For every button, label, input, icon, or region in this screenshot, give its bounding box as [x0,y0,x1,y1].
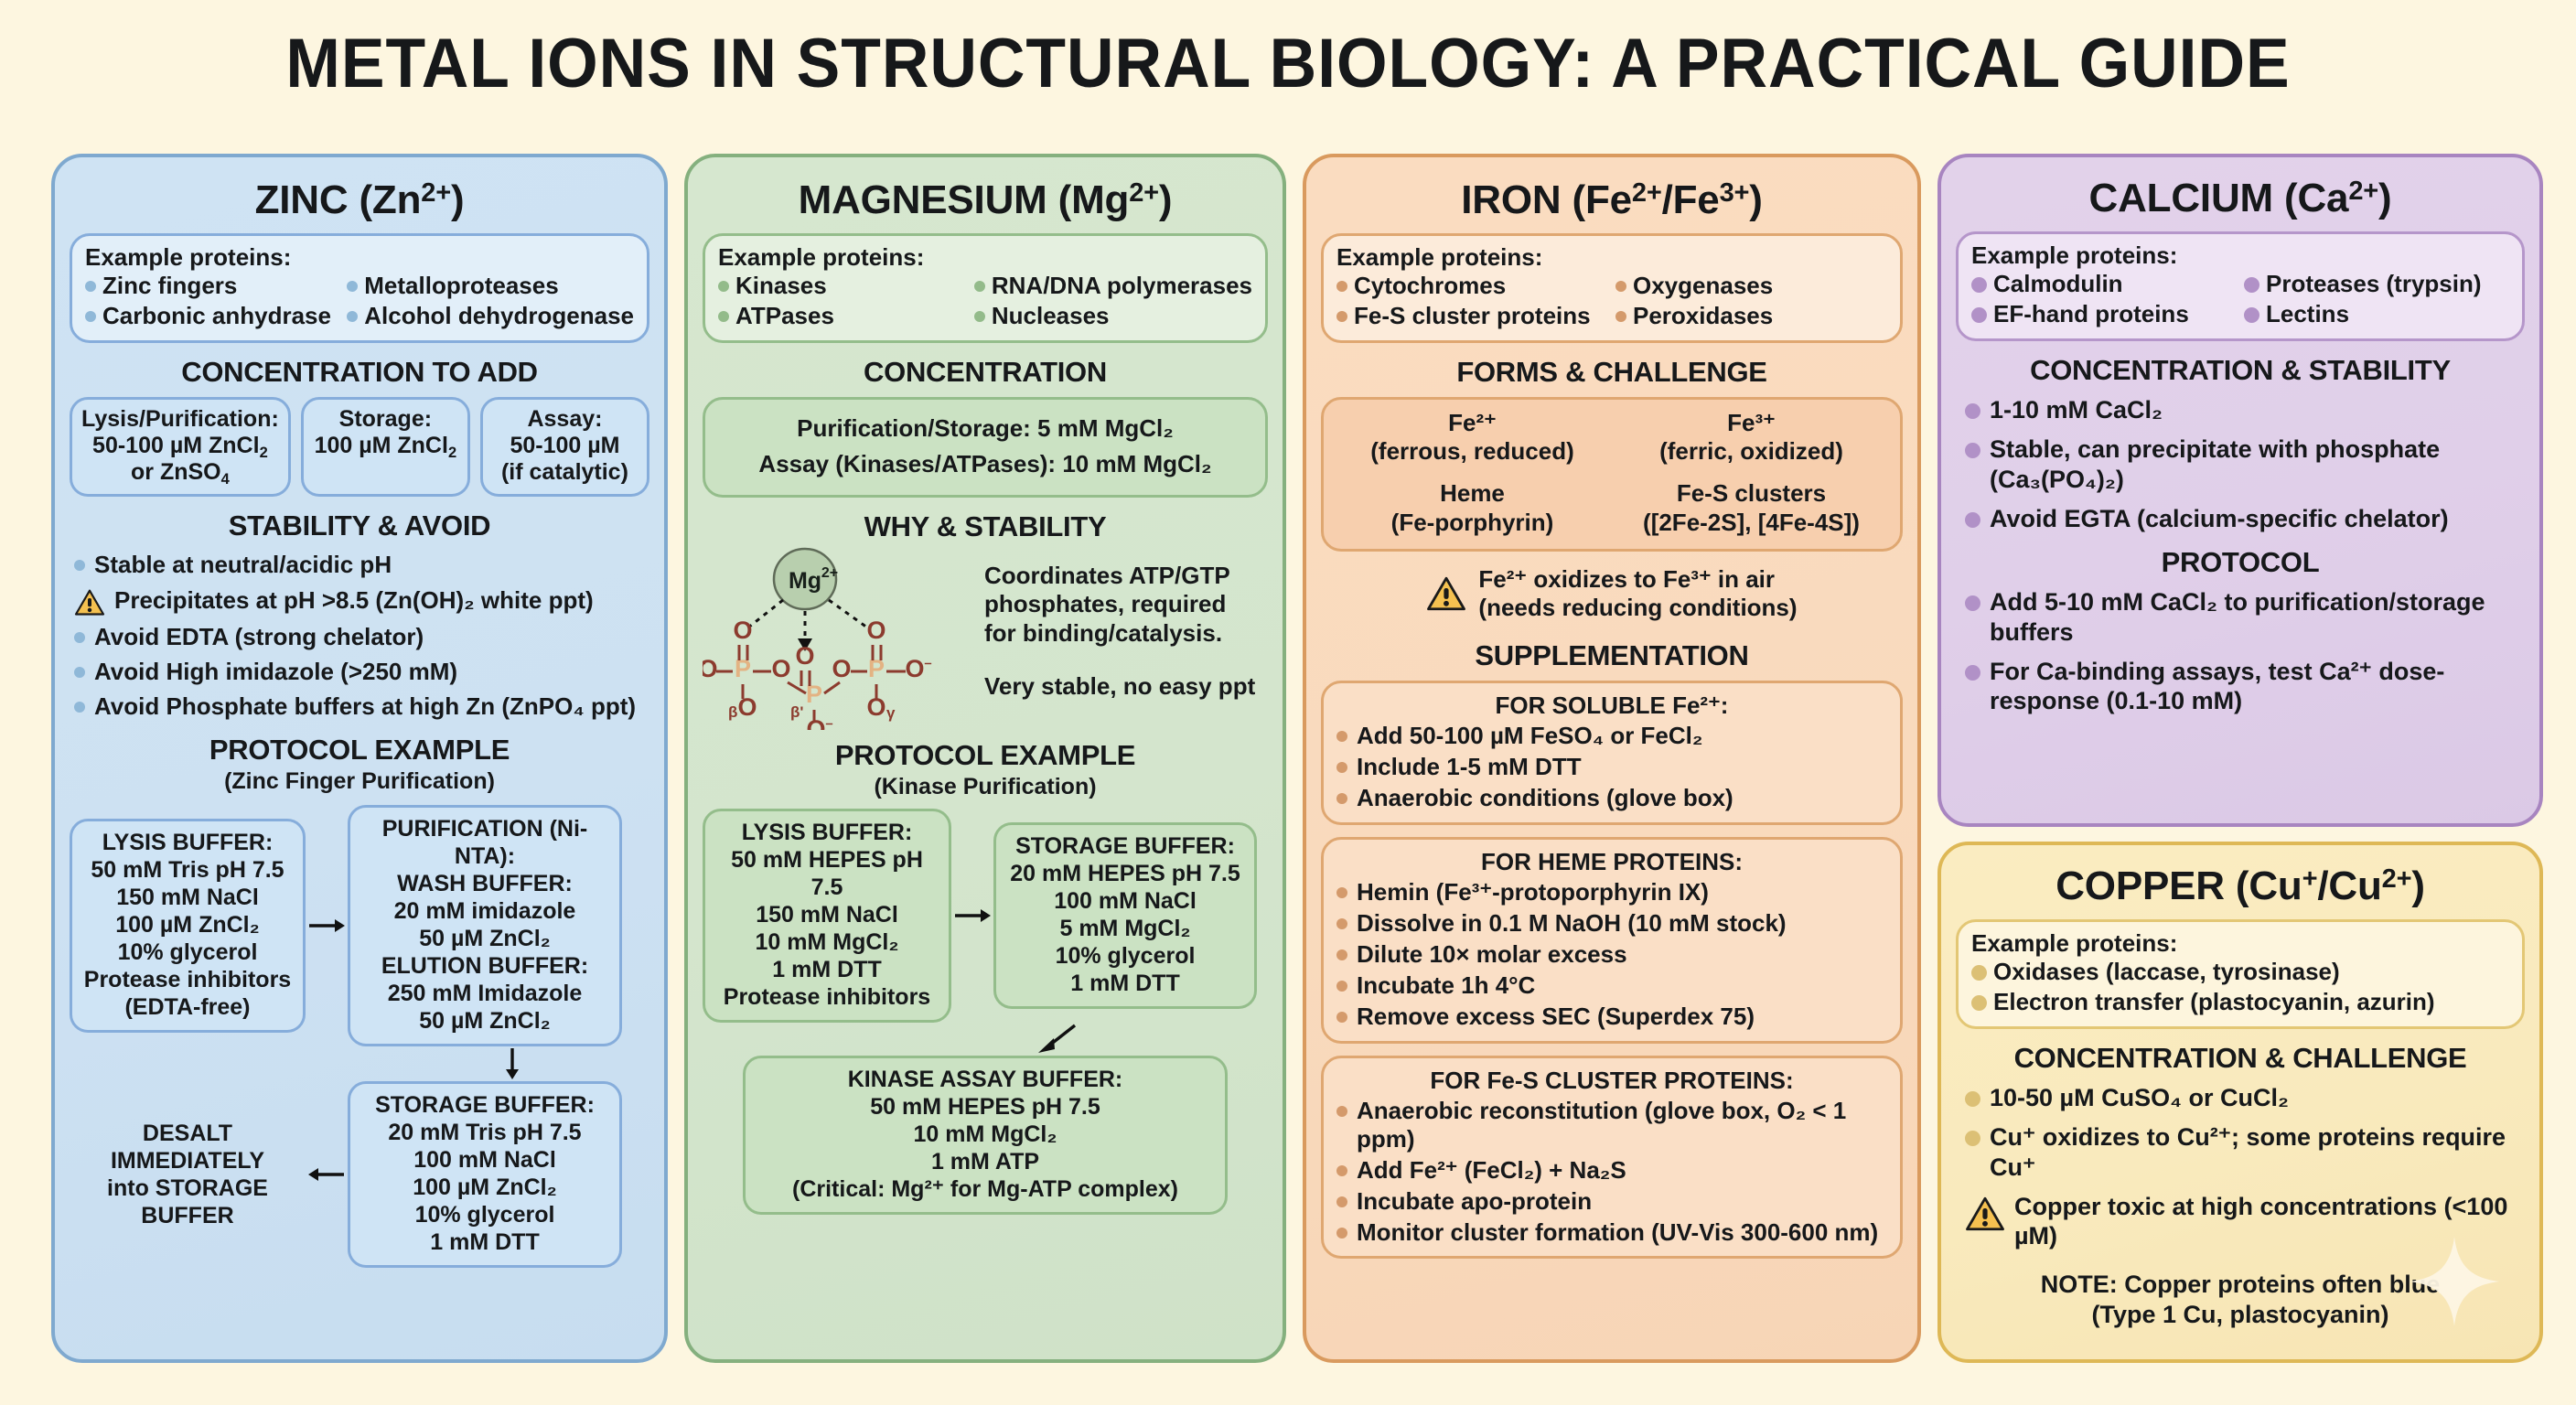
zinc-concentration-boxes: Lysis/Purification: 50-100 µM ZnCl2 or Z… [70,397,649,498]
list-item: Add 5-10 mM CaCl₂ to purification/storag… [1965,587,2525,647]
list-item: Cytochromes [1336,271,1608,301]
list-item: Oxygenases [1615,271,1887,301]
list-item: Anaerobic reconstitution (glove box, O₂ … [1336,1097,1887,1153]
example-proteins-label: Example proteins: [1336,244,1887,271]
zinc-protein-grid: Zinc fingers Metalloproteases Carbonic a… [85,271,634,331]
iron-form-fes: Fe-S clusters([2Fe-2S], [4Fe-4S]) [1612,479,1891,537]
bullet-dot-icon [1336,1228,1347,1239]
svg-text:β: β [728,703,737,721]
svg-text:⁻: ⁻ [924,658,932,675]
list-item: Lectins [2244,299,2509,329]
calcium-protocol-heading: PROTOCOL [1956,546,2525,579]
bullet-dot-icon [1336,1012,1347,1023]
bullet-dot-icon [1336,731,1347,742]
metal-column-magnesium: MAGNESIUM (Mg2+) Example proteins: Kinas… [684,154,1286,1363]
magnesium-protocol-heading: PROTOCOL EXAMPLE [703,739,1268,772]
flow-arrow-down-icon [70,1047,649,1080]
flow-box-lysis-buffer: LYSIS BUFFER: 50 mM HEPES pH 7.5 150 mM … [703,809,951,1023]
zinc-stability-list: Stable at neutral/acidic pH Precipitates… [70,551,649,721]
bullet-dot-icon [85,311,96,322]
bullet-dot-icon [347,311,358,322]
bullet-dot-icon [1971,307,1987,323]
list-item: Electron transfer (plastocyanin, azurin) [1971,987,2509,1017]
svg-text:O: O [905,655,924,682]
copper-protein-grid: Oxidases (laccase, tyrosinase) Electron … [1971,957,2509,1017]
list-item: Remove excess SEC (Superdex 75) [1336,1003,1887,1031]
magnesium-title: MAGNESIUM (Mg2+) [703,179,1268,222]
calcium-concentration-list: 1-10 mM CaCl₂ Stable, can precipitate wi… [1956,395,2525,534]
list-item: Calmodulin [1971,269,2237,299]
iron-form-fe3: Fe³⁺(ferric, oxidized) [1612,409,1891,467]
magnesium-example-proteins-panel: Example proteins: Kinases RNA/DNA polyme… [703,233,1268,343]
bullet-dot-icon [1965,443,1980,458]
bullet-dot-icon [74,702,85,713]
copper-concentration-list: 10-50 µM CuSO₄ or CuCl₂ Cu⁺ oxidizes to … [1956,1083,2525,1251]
magnesium-protein-grid: Kinases RNA/DNA polymerases ATPases Nucl… [718,271,1252,331]
bullet-dot-icon [2244,277,2259,293]
bullet-dot-icon [974,281,985,292]
bullet-dot-icon [1336,1165,1347,1176]
bullet-dot-icon [1615,281,1626,292]
magnesium-concentration-heading: CONCENTRATION [703,356,1268,389]
concentration-box-lysis: Lysis/Purification: 50-100 µM ZnCl2 or Z… [70,397,291,498]
list-item: Avoid Phosphate buffers at high Zn (ZnPO… [74,692,649,721]
bullet-dot-icon [1336,311,1347,322]
list-item: Peroxidases [1615,301,1887,331]
iron-soluble-panel: FOR SOLUBLE Fe²⁺: Add 50-100 µM FeSO₄ or… [1321,681,1903,825]
calcium-concentration-heading: CONCENTRATION & STABILITY [1956,354,2525,387]
zinc-flow-row-2: DESALT IMMEDIATELY into STORAGE BUFFER S… [70,1081,649,1268]
iron-fes-panel: FOR Fe-S CLUSTER PROTEINS: Anaerobic rec… [1321,1056,1903,1260]
bullet-dot-icon [74,560,85,571]
magnesium-why-text: Coordinates ATP/GTP phosphates, required… [981,547,1255,702]
svg-text:O: O [832,655,851,682]
mg-atp-phosphate-molecule-diagram: Mg 2+ O O O O P O O P O P [703,547,977,730]
example-proteins-label: Example proteins: [1971,930,2509,957]
bullet-dot-icon [1971,995,1987,1011]
list-item: Add 50-100 µM FeSO₄ or FeCl₂ [1336,722,1887,750]
bullet-dot-icon [1971,965,1987,981]
example-proteins-label: Example proteins: [718,244,1252,271]
bullet-dot-icon [1336,887,1347,898]
svg-text:β': β' [790,703,803,721]
calcium-protein-grid: Calmodulin Proteases (trypsin) EF-hand p… [1971,269,2509,329]
bullet-dot-icon [1965,1131,1980,1146]
list-item: Incubate 1h 4°C [1336,971,1887,1000]
flow-box-purification: PURIFICATION (Ni-NTA): WASH BUFFER: 20 m… [348,805,622,1046]
flow-box-kinase-assay-buffer: KINASE ASSAY BUFFER: 50 mM HEPES pH 7.5 … [743,1056,1228,1215]
svg-text:⁻: ⁻ [825,718,833,730]
page-title: METAL IONS IN STRUCTURAL BIOLOGY: A PRAC… [77,24,2498,103]
list-item: 10-50 µM CuSO₄ or CuCl₂ [1965,1083,2525,1112]
magnesium-flow-row-1: LYSIS BUFFER: 50 mM HEPES pH 7.5 150 mM … [703,809,1268,1023]
warning-triangle-icon [74,589,105,617]
bullet-dot-icon [1336,793,1347,804]
iron-forms-heading: FORMS & CHALLENGE [1321,356,1903,389]
svg-text:2+: 2+ [821,565,838,581]
zinc-title: ZINC (Zn2+) [70,179,649,222]
list-item: Precipitates at pH >8.5 (Zn(OH)₂ white p… [74,586,649,617]
iron-warning-row: Fe²⁺ oxidizes to Fe³⁺ in air (needs redu… [1321,565,1903,623]
bullet-dot-icon [85,281,96,292]
flow-arrow-left-icon [306,1165,348,1184]
iron-example-proteins-panel: Example proteins: Cytochromes Oxygenases… [1321,233,1903,343]
list-item: Dilute 10× molar excess [1336,940,1887,969]
concentration-box-assay: Assay: 50-100 µM (if catalytic) [480,397,649,498]
iron-form-fe2: Fe²⁺(ferrous, reduced) [1333,409,1612,467]
list-item: Proteases (trypsin) [2244,269,2509,299]
list-item: Incubate apo-protein [1336,1187,1887,1216]
bullet-dot-icon [1965,403,1980,419]
svg-text:O: O [806,715,825,730]
copper-title: COPPER (Cu+/Cu2+) [1956,865,2525,908]
svg-text:O: O [771,655,790,682]
bullet-dot-icon [1336,981,1347,992]
magnesium-why-row: Mg 2+ O O O O P O O P O P [703,547,1268,730]
list-item: Fe-S cluster proteins [1336,301,1608,331]
magnesium-protocol-subheading: (Kinase Purification) [703,774,1268,800]
bullet-dot-icon [974,311,985,322]
bullet-dot-icon [718,311,729,322]
bullet-dot-icon [1336,762,1347,773]
desalt-label: DESALT IMMEDIATELY into STORAGE BUFFER [70,1120,306,1229]
list-item: ATPases [718,301,967,331]
list-item: Carbonic anhydrase [85,301,339,331]
list-item: EF-hand proteins [1971,299,2237,329]
zinc-flow-row-1: LYSIS BUFFER: 50 mM Tris pH 7.5 150 mM N… [70,805,649,1046]
list-item: Cu⁺ oxidizes to Cu²⁺; some proteins requ… [1965,1122,2525,1182]
copper-concentration-heading: CONCENTRATION & CHALLENGE [1956,1042,2525,1075]
bullet-dot-icon [1336,1106,1347,1117]
magnesium-why-heading: WHY & STABILITY [703,510,1268,543]
zinc-stability-heading: STABILITY & AVOID [70,509,649,542]
bullet-dot-icon [1971,277,1987,293]
list-item: Stable, can precipitate with phosphate (… [1965,434,2525,494]
list-item: Stable at neutral/acidic pH [74,551,649,579]
list-item: Oxidases (laccase, tyrosinase) [1971,957,2509,987]
copper-example-proteins-panel: Example proteins: Oxidases (laccase, tyr… [1956,919,2525,1029]
bullet-dot-icon [74,667,85,678]
list-item: Anaerobic conditions (glove box) [1336,784,1887,812]
list-item: Kinases [718,271,967,301]
list-item: Hemin (Fe³⁺-protoporphyrin IX) [1336,878,1887,906]
infographic-root: METAL IONS IN STRUCTURAL BIOLOGY: A PRAC… [0,0,2576,1405]
list-item: RNA/DNA polymerases [974,271,1252,301]
iron-form-heme: Heme(Fe-porphyrin) [1333,479,1612,537]
list-item: Avoid EDTA (strong chelator) [74,623,649,651]
calcium-protocol-list: Add 5-10 mM CaCl₂ to purification/storag… [1956,587,2525,716]
list-item: Alcohol dehydrogenase [347,301,634,331]
iron-heme-panel: FOR HEME PROTEINS: Hemin (Fe³⁺-protoporp… [1321,837,1903,1044]
bullet-dot-icon [347,281,358,292]
flow-box-storage-buffer: STORAGE BUFFER: 20 mM Tris pH 7.5 100 mM… [348,1081,622,1268]
flow-arrow-right-icon [306,917,348,935]
iron-supplementation-heading: SUPPLEMENTATION [1321,639,1903,672]
iron-title: IRON (Fe2+/Fe3+) [1321,179,1903,222]
svg-text:⁻: ⁻ [703,658,706,675]
bullet-dot-icon [1336,1196,1347,1207]
svg-text:γ: γ [886,704,896,722]
iron-protein-grid: Cytochromes Oxygenases Fe-S cluster prot… [1336,271,1887,331]
calcium-example-proteins-panel: Example proteins: Calmodulin Proteases (… [1956,231,2525,341]
calcium-title: CALCIUM (Ca2+) [1956,177,2525,220]
metal-column-zinc: ZINC (Zn2+) Example proteins: Zinc finge… [51,154,668,1363]
bullet-dot-icon [1336,281,1347,292]
flow-box-storage-buffer: STORAGE BUFFER: 20 mM HEPES pH 7.5 100 m… [993,822,1257,1009]
svg-text:O: O [737,693,757,721]
magnesium-concentration-panel: Purification/Storage: 5 mM MgCl₂ Assay (… [703,397,1268,498]
bullet-dot-icon [74,632,85,643]
bullet-dot-icon [1965,1091,1980,1107]
list-item: Dissolve in 0.1 M NaOH (10 mM stock) [1336,909,1887,938]
zinc-concentration-heading: CONCENTRATION TO ADD [70,356,649,389]
bullet-dot-icon [1615,311,1626,322]
list-item: For Ca-binding assays, test Ca²⁺ dose-re… [1965,657,2525,716]
flow-arrow-right-icon [951,906,993,925]
list-item: Metalloproteases [347,271,634,301]
bullet-dot-icon [1336,949,1347,960]
list-item: 1-10 mM CaCl₂ [1965,395,2525,424]
metal-column-copper: COPPER (Cu+/Cu2+) Example proteins: Oxid… [1937,842,2543,1363]
concentration-box-storage: Storage: 100 µM ZnCl2 [301,397,470,498]
svg-text:Mg: Mg [789,568,821,594]
warning-triangle-icon [1965,1196,2005,1232]
flow-box-lysis-buffer: LYSIS BUFFER: 50 mM Tris pH 7.5 150 mM N… [70,819,306,1033]
list-item: Add Fe²⁺ (FeCl₂) + Na₂S [1336,1156,1887,1185]
list-item: Avoid EGTA (calcium-specific chelator) [1965,504,2525,533]
bullet-dot-icon [1965,595,1980,611]
list-item: Zinc fingers [85,271,339,301]
svg-text:O: O [733,617,752,644]
flow-arrow-diagonal-icon [703,1024,1268,1055]
example-proteins-label: Example proteins: [85,244,634,271]
metal-column-iron: IRON (Fe2+/Fe3+) Example proteins: Cytoc… [1303,154,1921,1363]
warning-triangle-icon [1426,576,1466,612]
zinc-protocol-subheading: (Zinc Finger Purification) [70,768,649,795]
list-item: Monitor cluster formation (UV-Vis 300-60… [1336,1218,1887,1247]
bullet-dot-icon [2244,307,2259,323]
list-item: Avoid High imidazole (>250 mM) [74,658,649,686]
zinc-example-proteins-panel: Example proteins: Zinc fingers Metallopr… [70,233,649,343]
svg-text:O: O [866,617,885,644]
magnesium-flow-row-2: KINASE ASSAY BUFFER: 50 mM HEPES pH 7.5 … [703,1056,1268,1215]
list-item: Copper toxic at high concentrations (<10… [1965,1192,2525,1251]
copper-note: NOTE: Copper proteins often blue (Type 1… [1956,1270,2525,1330]
example-proteins-label: Example proteins: [1971,242,2509,269]
bullet-dot-icon [1965,665,1980,681]
list-item: Include 1-5 mM DTT [1336,753,1887,781]
zinc-protocol-heading: PROTOCOL EXAMPLE [70,734,649,767]
svg-text:O: O [795,642,814,670]
bullet-dot-icon [1336,918,1347,929]
bullet-dot-icon [718,281,729,292]
iron-forms-panel: Fe²⁺(ferrous, reduced) Fe³⁺(ferric, oxid… [1321,397,1903,552]
bullet-dot-icon [1965,512,1980,528]
list-item: Nucleases [974,301,1252,331]
metal-column-calcium: CALCIUM (Ca2+) Example proteins: Calmodu… [1937,154,2543,827]
